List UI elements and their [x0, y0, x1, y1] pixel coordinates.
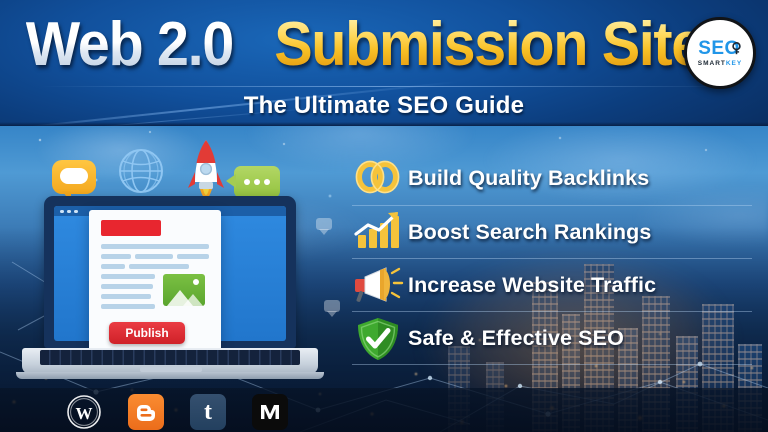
header-band: Web 2.0 Submission Sites The Ultimate SE…: [0, 0, 768, 126]
bar-chart-growth-icon: [352, 210, 408, 254]
page-subtitle: The Ultimate SEO Guide: [0, 92, 768, 120]
brand-logo[interactable]: SEO SMARTKEY: [684, 17, 756, 89]
feature-label: Build Quality Backlinks: [408, 166, 649, 191]
chat-ghost-icon: [316, 218, 332, 230]
tumblr-icon[interactable]: t: [190, 394, 226, 430]
title-part-one: Web 2.0: [26, 14, 233, 76]
svg-text:W: W: [76, 404, 93, 423]
feature-label: Safe & Effective SEO: [408, 326, 624, 351]
page-title: Web 2.0 Submission Sites: [0, 14, 768, 76]
feature-divider: [352, 364, 752, 365]
social-platform-bar: W t: [0, 388, 768, 432]
feature-label: Boost Search Rankings: [408, 220, 651, 245]
image-placeholder-icon: [163, 274, 205, 306]
feature-item-traffic: Increase Website Traffic: [352, 258, 752, 311]
key-icon: [731, 42, 742, 55]
blog-post-document: Publish: [89, 210, 221, 360]
laptop-keyboard: [40, 350, 300, 365]
logo-key-label: KEY: [726, 60, 742, 67]
globe-wireframe-icon: [118, 148, 164, 194]
chat-bubble-green-icon: [234, 166, 280, 198]
logo-main-text: SEO: [698, 39, 742, 58]
chat-ghost-icon: [324, 300, 340, 312]
speech-bubble-orange-icon: [52, 160, 96, 194]
feature-item-rankings: Boost Search Rankings: [352, 205, 752, 258]
logo-smart-label: SMART: [698, 60, 726, 67]
blogger-icon[interactable]: [128, 394, 164, 430]
logo-sub-text: SMARTKEY: [698, 61, 742, 68]
feature-item-safe-seo: Safe & Effective SEO: [352, 311, 752, 364]
feature-item-backlinks: Build Quality Backlinks: [352, 152, 752, 205]
laptop-foot: [16, 372, 324, 379]
megaphone-icon: [352, 263, 408, 307]
laptop-base: [22, 348, 318, 374]
feature-label: Increase Website Traffic: [408, 273, 656, 298]
header-bottom-edge: [0, 122, 768, 126]
medium-icon[interactable]: [252, 394, 288, 430]
shield-check-icon: [352, 316, 408, 360]
header-divider: [40, 86, 728, 87]
publish-button[interactable]: Publish: [109, 322, 185, 344]
seo-banner: 👍 👍 Web 2.0 Submission Sites The Ultimat…: [0, 0, 768, 432]
wordpress-icon[interactable]: W: [66, 394, 102, 430]
title-part-two: Submission Sites: [274, 14, 732, 76]
chain-link-icon: [352, 157, 408, 201]
document-header-bar: [101, 220, 161, 236]
feature-list: Build Quality Backlinks Boost Search Ran…: [352, 152, 752, 364]
laptop-illustration: Publish: [22, 196, 318, 386]
